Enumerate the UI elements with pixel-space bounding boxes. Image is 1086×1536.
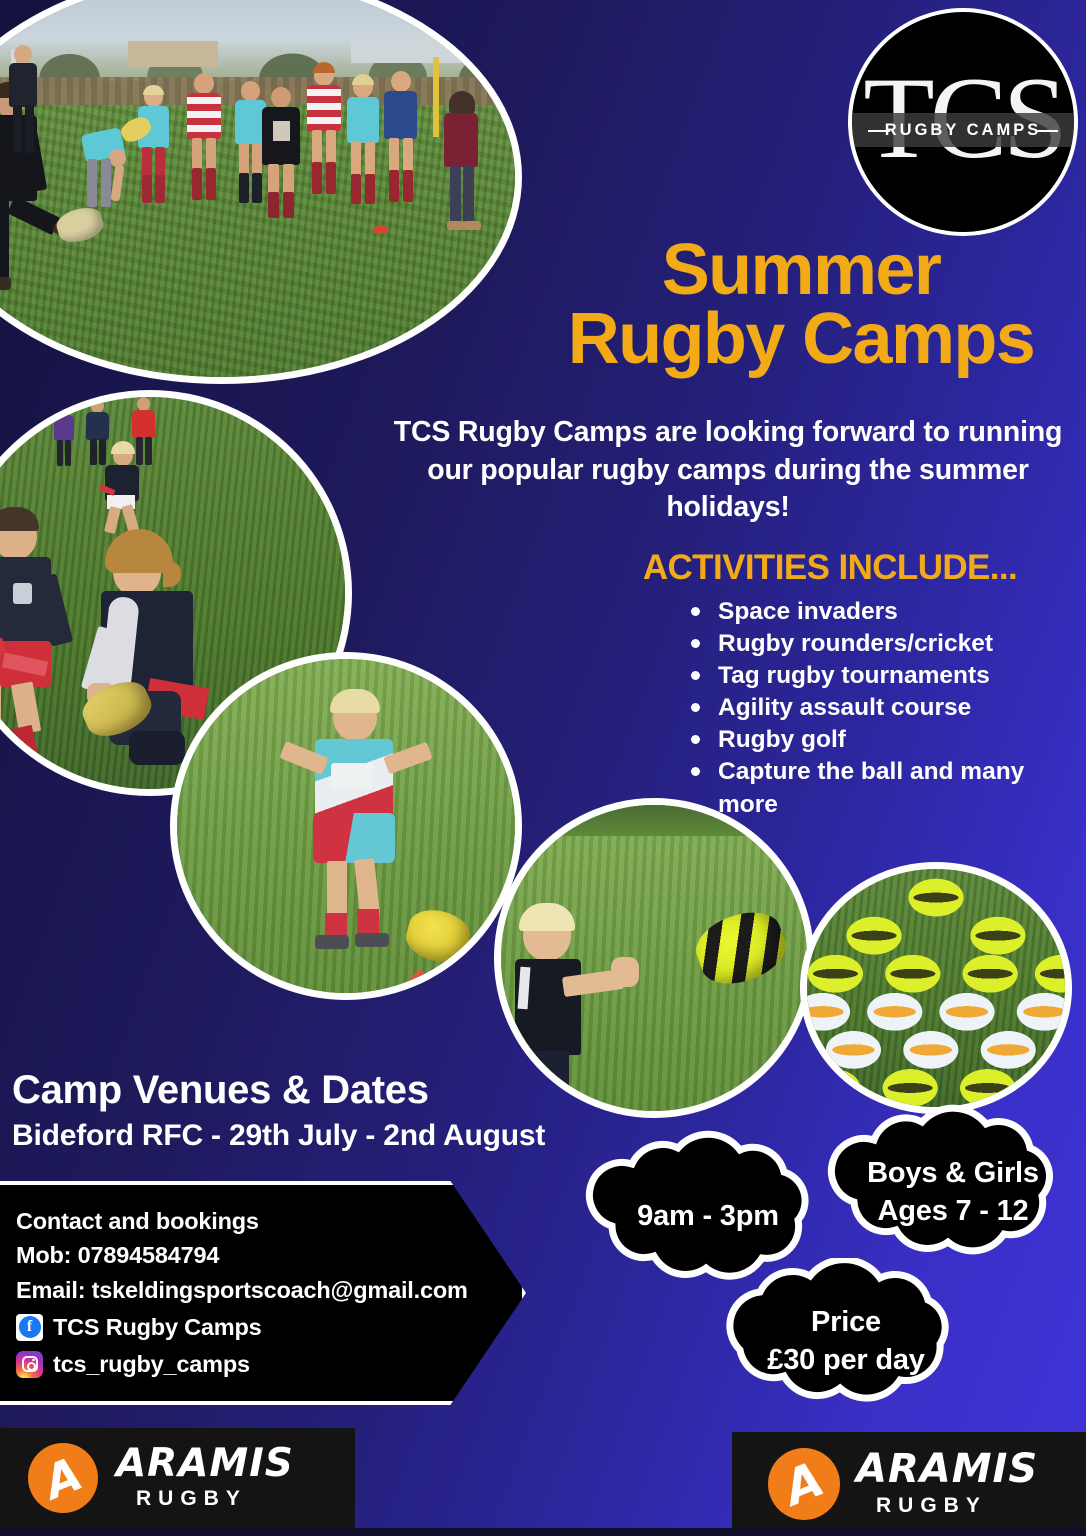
aramis-mark-icon: A (28, 1443, 98, 1513)
aramis-wordmark: ARAMIS RUGBY (116, 1445, 294, 1511)
sponsor-logo-left: A ARAMIS RUGBY (0, 1428, 355, 1528)
figure-child (131, 87, 175, 213)
facebook-handle[interactable]: TCS Rugby Camps (53, 1310, 262, 1344)
cloud-line: 9am - 3pm (637, 1198, 779, 1236)
activities-list: Space invaders Rugby rounders/cricket Ta… (716, 596, 1076, 821)
list-item: Capture the ball and many more (716, 756, 1076, 820)
aramis-mark-letter: A (776, 1451, 831, 1517)
list-item-label: Agility assault course (718, 694, 971, 721)
list-item: Agility assault course (716, 692, 1076, 724)
aramis-name: ARAMIS (116, 1445, 294, 1483)
cloud-price-text: Price £30 per day (700, 1258, 992, 1426)
cloud-line: £30 per day (767, 1342, 924, 1380)
figure-child (181, 73, 227, 213)
sponsor-logo-right: A ARAMIS RUGBY (732, 1432, 1086, 1536)
page-title: Summer Rugby Camps (516, 236, 1086, 374)
figure-child-bending (79, 125, 129, 217)
list-item: Tag rugby tournaments (716, 660, 1076, 692)
instagram-handle[interactable]: tcs_rugby_camps (53, 1347, 250, 1381)
figure-child (379, 71, 423, 211)
aramis-mark-icon: A (768, 1448, 840, 1520)
cloud-price: Price £30 per day (700, 1258, 992, 1426)
contact-details: Contact and bookings Mob: 07894584794 Em… (16, 1204, 486, 1381)
contact-mobile[interactable]: Mob: 07894584794 (16, 1238, 486, 1272)
bullet-icon (691, 607, 700, 616)
figure-background-child (51, 403, 77, 469)
photo-coach-and-group (0, 0, 522, 384)
list-item: Space invaders (716, 596, 1076, 628)
tcs-logo-band: RUGBY CAMPS (852, 113, 1074, 147)
photo-ball-stack (800, 862, 1072, 1114)
title-line-2: Rugby Camps (516, 305, 1086, 374)
list-item: Rugby golf (716, 724, 1076, 756)
subheading: TCS Rugby Camps are looking forward to r… (372, 414, 1084, 527)
tcs-logo: TCS RUGBY CAMPS (848, 8, 1078, 236)
figure-girl-maroon (439, 93, 485, 239)
clubhouse (128, 41, 218, 67)
contact-heading: Contact and bookings (16, 1204, 486, 1238)
cloud-line: Price (811, 1304, 881, 1342)
venues-line: Bideford RFC - 29th July - 2nd August (12, 1119, 545, 1153)
figure-child-running (95, 445, 153, 535)
cloud-ages-text: Boys & Girls Ages 7 - 12 (818, 1102, 1086, 1284)
bullet-icon (691, 735, 700, 744)
list-item-label: Capture the ball and many more (718, 758, 1024, 817)
instagram-row[interactable]: tcs_rugby_camps (16, 1347, 486, 1381)
facebook-row[interactable]: f TCS Rugby Camps (16, 1310, 486, 1344)
list-item: Rugby rounders/cricket (716, 628, 1076, 660)
venues-title: Camp Venues & Dates (12, 1068, 429, 1113)
title-line-1: Summer (516, 236, 1086, 305)
bullet-icon (691, 639, 700, 648)
training-cone (374, 225, 388, 234)
activities-title: ACTIVITIES INCLUDE... (580, 548, 1080, 588)
bullet-icon (691, 703, 700, 712)
facebook-icon[interactable]: f (16, 1314, 43, 1341)
bottom-bar (0, 1528, 1086, 1536)
building-right (351, 33, 461, 63)
contact-email[interactable]: Email: tskeldingsportscoach@gmail.com (16, 1273, 486, 1307)
instagram-icon[interactable] (16, 1351, 43, 1378)
poster-canvas: TCS RUGBY CAMPS Summer Rugby Camps TCS R… (0, 0, 1086, 1536)
photo-boy-kicking (170, 652, 522, 1000)
bullet-icon (691, 671, 700, 680)
figure-child-dark (255, 87, 307, 223)
cloud-line: Boys & Girls (867, 1155, 1039, 1193)
figure-boy-left (0, 513, 73, 769)
cloud-ages: Boys & Girls Ages 7 - 12 (818, 1102, 1086, 1284)
aramis-sub: RUGBY (876, 1494, 1038, 1518)
figure-boy-passing (511, 911, 641, 1118)
aramis-mark-letter: A (36, 1446, 89, 1509)
aramis-name: ARAMIS (856, 1450, 1038, 1489)
list-item-label: Tag rugby tournaments (718, 662, 990, 689)
list-item-label: Rugby rounders/cricket (718, 630, 993, 657)
figure-child (3, 45, 43, 165)
photo-boy-passing (494, 798, 814, 1118)
list-item-label: Rugby golf (718, 726, 846, 753)
cloud-line: Ages 7 - 12 (878, 1193, 1029, 1231)
list-item-label: Space invaders (718, 598, 898, 625)
aramis-sub: RUGBY (136, 1487, 294, 1511)
contact-banner: Contact and bookings Mob: 07894584794 Em… (0, 1181, 526, 1405)
bullet-icon (691, 767, 700, 776)
aramis-wordmark: ARAMIS RUGBY (856, 1450, 1038, 1517)
